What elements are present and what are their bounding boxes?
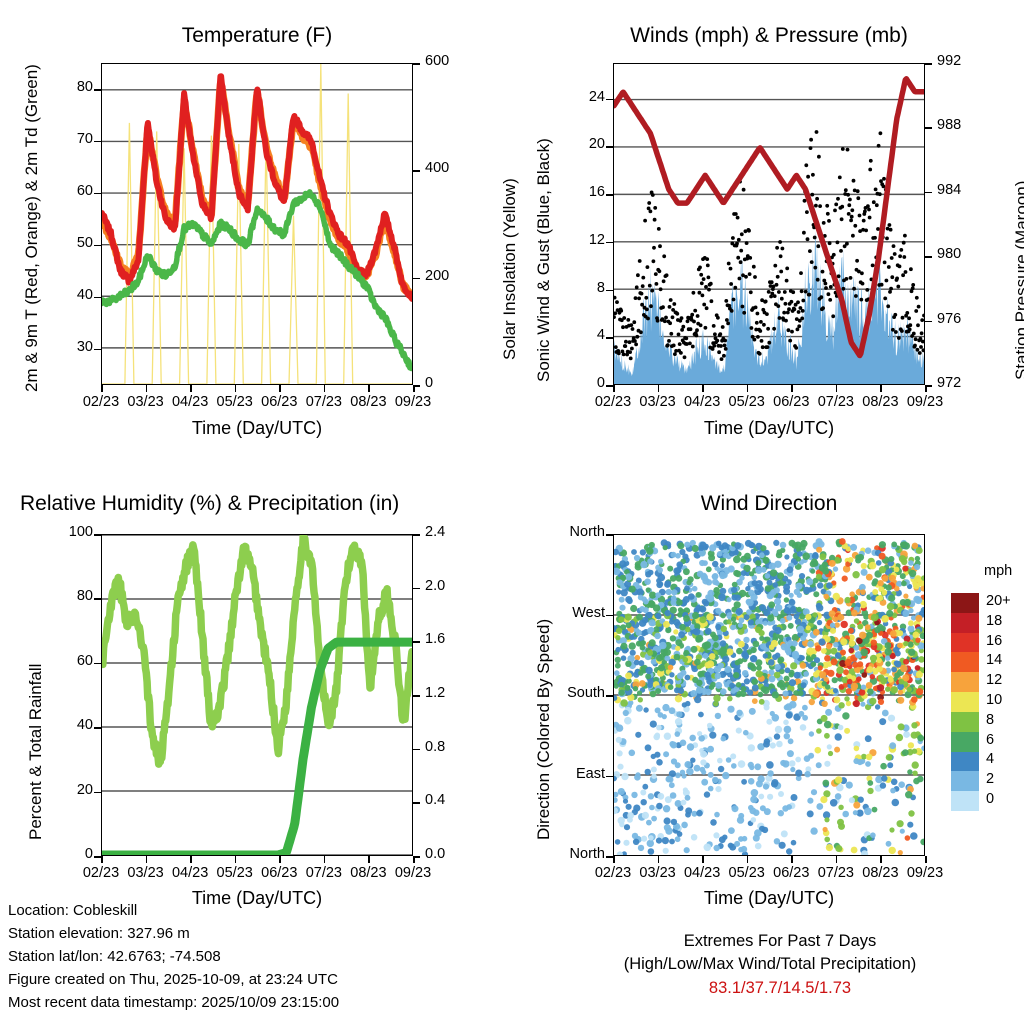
y-tick-mark [606,146,613,148]
x-tick-mark [235,385,237,392]
y-tick-mark-right [413,749,420,751]
y-tick-label: East [537,766,605,782]
winddir-xlabel: Time (Day/UTC) [613,888,925,909]
y-tick-label: 4 [551,327,605,343]
y-tick-mark-right [413,695,420,697]
x-tick-mark [413,385,415,392]
x-tick-mark [791,856,793,863]
x-tick-mark [368,856,370,863]
temperature-title: Temperature (F) [101,24,413,48]
colorbar-tick-label: 14 [986,652,1002,668]
y-tick-mark [94,727,101,729]
x-tick-mark [190,856,192,863]
y-tick-mark [606,776,613,778]
winddir-title: Wind Direction [613,492,925,516]
y-tick-mark [606,290,613,292]
colorbar-band [951,712,979,732]
winds-plot [613,63,925,385]
winds-xlabel: Time (Day/UTC) [613,418,925,439]
y-tick-label: West [537,605,605,621]
y-tick-label-right: 0 [425,375,433,391]
x-tick-mark [324,385,326,392]
colorbar-band [951,593,979,613]
y-tick-mark [606,695,613,697]
y-tick-label: 40 [39,287,93,303]
y-tick-mark [606,615,613,617]
y-tick-label: 30 [39,339,93,355]
y-tick-mark-right [925,192,932,194]
colorbar-tick-label: 12 [986,672,1002,688]
colorbar-tick-label: 16 [986,633,1002,649]
y-tick-label: 8 [551,280,605,296]
colorbar-tick-label: 18 [986,613,1002,629]
y-tick-label-right: 200 [425,268,449,284]
x-tick-mark [146,385,148,392]
y-tick-mark [606,242,613,244]
y-tick-mark [606,99,613,101]
x-tick-mark [368,385,370,392]
y-tick-mark-right [413,170,420,172]
y-tick-label: 24 [551,89,605,105]
footer-latlon: Station lat/lon: 42.6763; -74.508 [8,948,221,965]
x-tick-mark [880,856,882,863]
temperature-xlabel: Time (Day/UTC) [101,418,413,439]
colorbar-band [951,771,979,791]
colorbar-band [951,732,979,752]
x-tick-mark [925,856,927,863]
y-tick-label-right: 972 [937,375,961,391]
temperature-ylabel-right: Solar Insolation (Yellow) [500,178,520,360]
x-tick-mark [279,856,281,863]
x-tick-mark [925,385,927,392]
x-tick-mark [413,856,415,863]
y-tick-label-right: 0.8 [425,739,445,755]
y-tick-mark [94,534,101,536]
winddir-scatter [614,535,924,855]
y-tick-label-right: 988 [937,117,961,133]
x-tick-mark [702,856,704,863]
y-tick-label: 70 [39,131,93,147]
x-tick-mark [613,385,615,392]
x-tick-mark [702,385,704,392]
x-tick-label: 09/23 [387,394,439,410]
winds-ylabel-left: Sonic Wind & Gust (Blue, Black) [534,138,554,382]
extremes-heading: Extremes For Past 7 Days [560,932,1000,951]
y-tick-mark [94,792,101,794]
y-tick-mark-right [413,63,420,65]
x-tick-mark [880,385,882,392]
y-tick-label: 80 [39,588,93,604]
y-tick-label-right: 992 [937,53,961,69]
x-tick-mark [146,856,148,863]
y-tick-label: 60 [39,653,93,669]
extremes-values: 83.1/37.7/14.5/1.73 [560,979,1000,998]
y-tick-label: 20 [551,136,605,152]
y-tick-label: 0 [551,375,605,391]
y-tick-mark [606,534,613,536]
x-tick-mark [190,385,192,392]
humidity-ylabel-left: Percent & Total Rainfall [26,664,46,840]
colorbar-band [951,613,979,633]
y-tick-mark-right [413,534,420,536]
y-tick-label-right: 0.0 [425,846,445,862]
y-tick-label: 0 [39,846,93,862]
colorbar-band [951,652,979,672]
footer-created: Figure created on Thu, 2025-10-09, at 23… [8,971,338,988]
y-tick-label: North [537,524,605,540]
y-tick-mark [94,297,101,299]
humidity-xlabel: Time (Day/UTC) [101,888,413,909]
y-tick-mark-right [413,641,420,643]
y-tick-label: 100 [39,524,93,540]
y-tick-mark-right [925,321,932,323]
colorbar-title: mph [984,563,1012,579]
y-tick-mark-right [413,278,420,280]
winds-title: Winds (mph) & Pressure (mb) [613,24,925,48]
y-tick-mark [94,349,101,351]
x-tick-mark [101,385,103,392]
y-tick-mark-right [413,802,420,804]
colorbar-tick-label: 4 [986,751,994,767]
colorbar-tick-label: 2 [986,771,994,787]
winddir-ylabel-left: Direction (Colored By Speed) [534,619,554,840]
colorbar-tick-label: 6 [986,732,994,748]
x-tick-label: 09/23 [899,865,951,881]
x-tick-mark [613,856,615,863]
y-tick-label-right: 1.2 [425,685,445,701]
y-tick-label: North [537,846,605,862]
y-tick-label: 20 [39,782,93,798]
y-tick-mark-right [413,588,420,590]
y-tick-label: South [537,685,605,701]
footer-location: Location: Cobleskill [8,902,137,919]
colorbar-band [951,692,979,712]
y-tick-label: 80 [39,79,93,95]
x-tick-mark [658,385,660,392]
y-tick-label-right: 600 [425,53,449,69]
x-tick-label: 09/23 [387,865,439,881]
y-tick-label-right: 984 [937,182,961,198]
y-tick-label-right: 1.6 [425,631,445,647]
extremes-subheading: (High/Low/Max Wind/Total Precipitation) [540,955,1000,974]
footer-timestamp: Most recent data timestamp: 2025/10/09 2… [8,994,339,1011]
y-tick-mark-right [925,256,932,258]
y-tick-mark-right [925,63,932,65]
x-tick-mark [324,856,326,863]
colorbar-band [951,752,979,772]
y-tick-label-right: 0.4 [425,792,445,808]
colorbar-tick-label: 8 [986,712,994,728]
y-tick-mark [606,856,613,858]
y-tick-label-right: 2.0 [425,578,445,594]
colorbar-band [951,633,979,653]
temperature-series [102,64,412,384]
colorbar-tick-label: 0 [986,791,994,807]
y-tick-label-right: 980 [937,246,961,262]
colorbar-band [951,672,979,692]
y-tick-label: 12 [551,232,605,248]
colorbar-tick-label: 10 [986,692,1002,708]
y-tick-label-right: 2.4 [425,524,445,540]
x-tick-mark [791,385,793,392]
x-tick-label: 09/23 [899,394,951,410]
y-tick-mark [94,89,101,91]
x-tick-mark [747,385,749,392]
y-tick-mark [94,193,101,195]
winddir-plot [613,534,925,856]
y-tick-mark [94,856,101,858]
y-tick-mark [94,245,101,247]
y-tick-label: 16 [551,184,605,200]
y-tick-label-right: 976 [937,311,961,327]
y-tick-label: 60 [39,183,93,199]
x-tick-mark [836,385,838,392]
y-tick-label-right: 400 [425,160,449,176]
x-tick-mark [101,856,103,863]
x-tick-mark [836,856,838,863]
colorbar-tick-label: 20+ [986,593,1011,609]
x-tick-mark [279,385,281,392]
y-tick-mark [606,337,613,339]
x-tick-mark [658,856,660,863]
x-tick-mark [235,856,237,863]
winds-ylabel-right: Station Pressure (Maroon) [1012,181,1024,380]
y-tick-mark [606,385,613,387]
y-tick-mark [94,141,101,143]
humidity-plot [101,534,413,856]
footer-elevation: Station elevation: 327.96 m [8,925,190,942]
y-tick-mark [606,194,613,196]
x-tick-mark [747,856,749,863]
wind-speed-colorbar [951,593,979,811]
colorbar-band [951,791,979,811]
winds-series [614,64,924,384]
y-tick-mark [94,598,101,600]
humidity-series [102,535,412,855]
y-tick-label: 40 [39,717,93,733]
y-tick-mark [94,663,101,665]
temperature-plot [101,63,413,385]
y-tick-label: 50 [39,235,93,251]
y-tick-mark-right [925,127,932,129]
humidity-title: Relative Humidity (%) & Precipitation (i… [20,492,490,516]
